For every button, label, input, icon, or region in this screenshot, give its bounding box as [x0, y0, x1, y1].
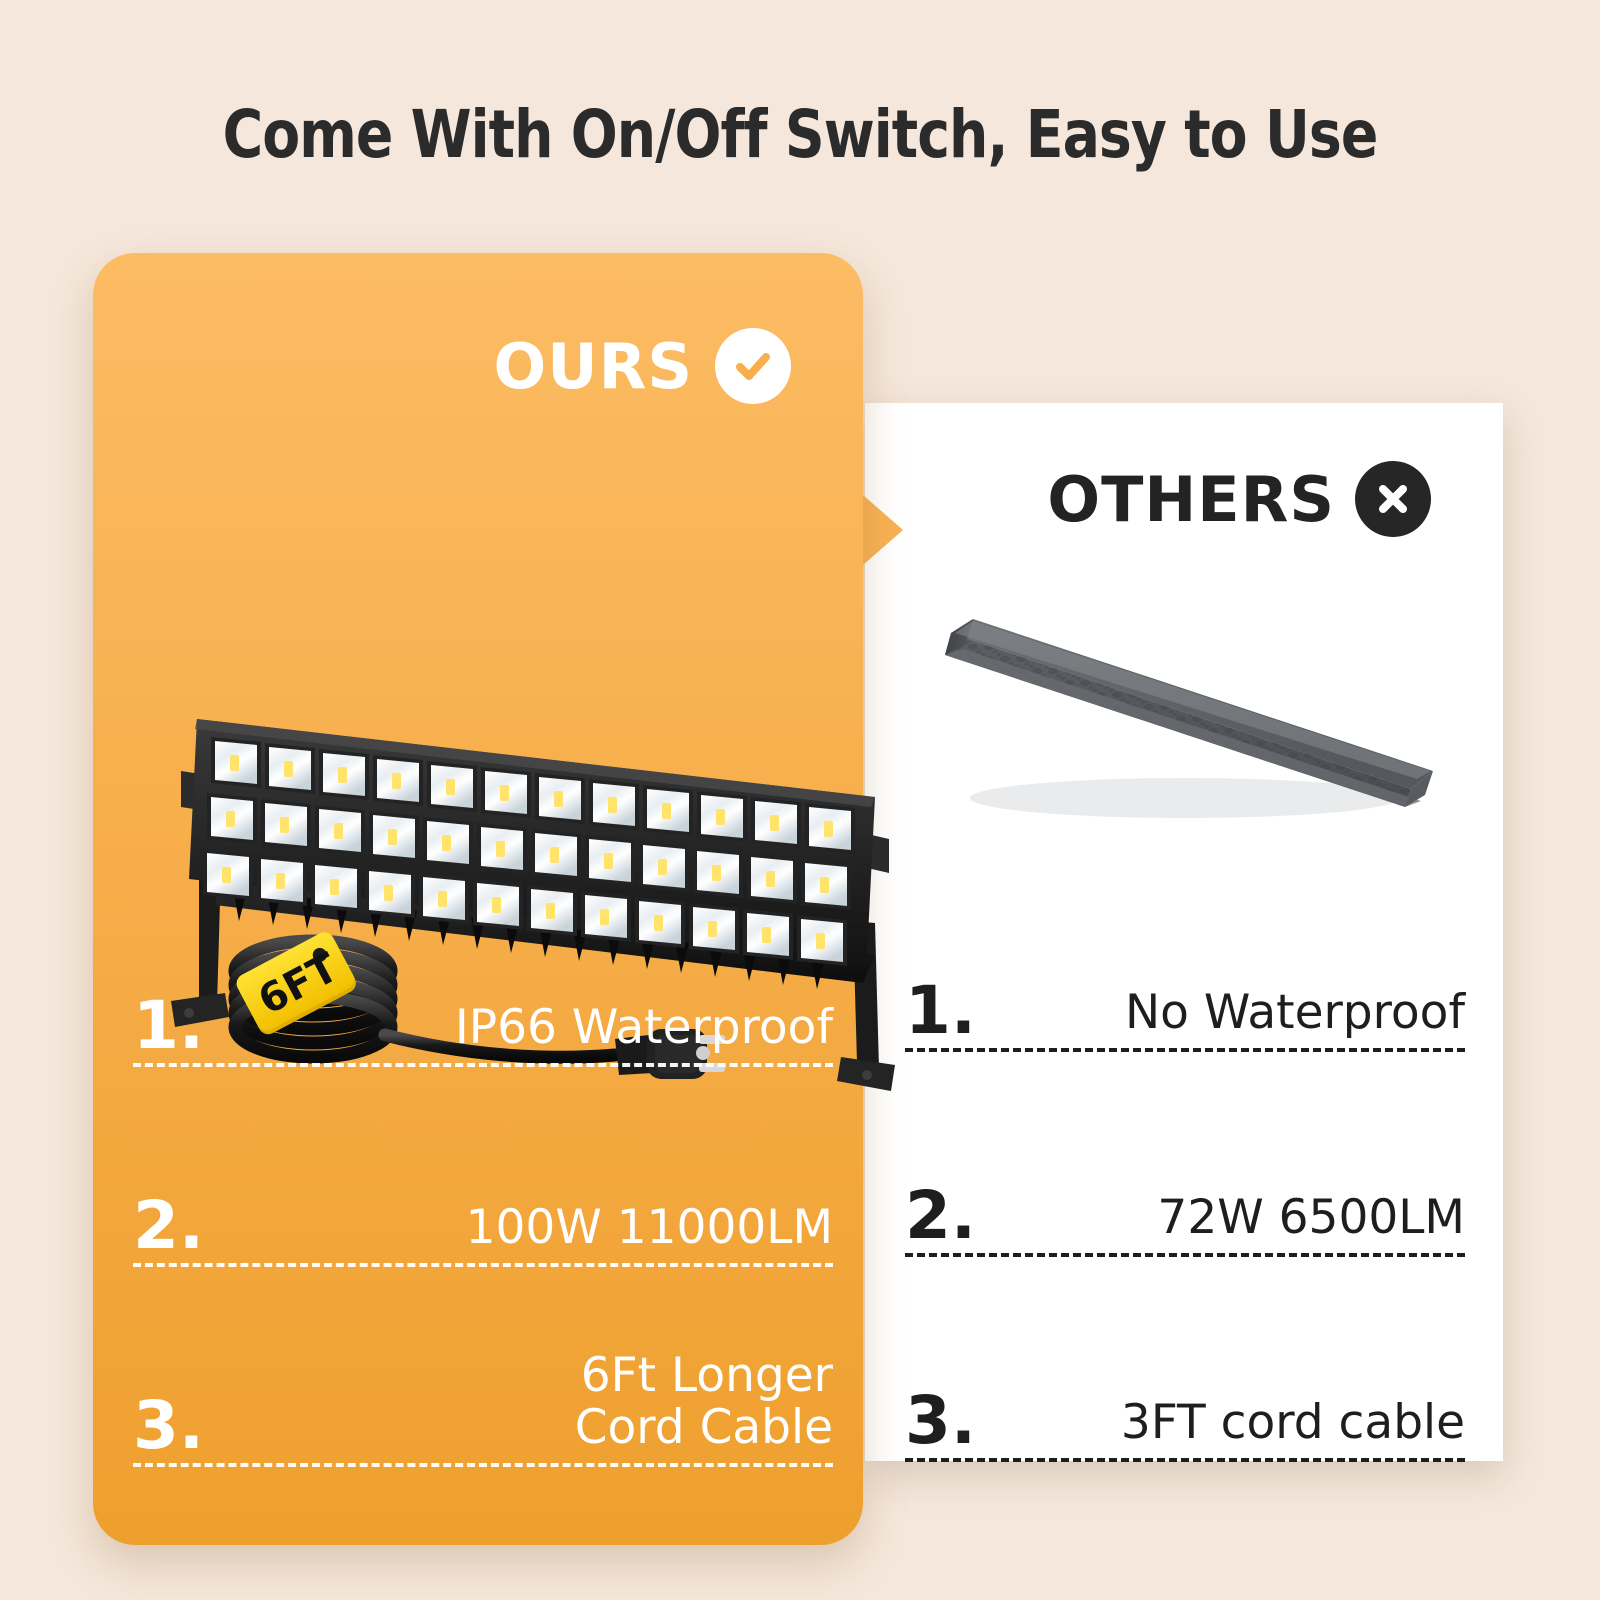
feature-divider	[133, 1063, 833, 1067]
feature-divider	[133, 1263, 833, 1267]
feature-divider	[133, 1463, 833, 1467]
feature-text: 100W 11000LM	[466, 1202, 833, 1263]
feature-row: 3. 3FT cord cable	[905, 1283, 1465, 1458]
feature-divider	[905, 1253, 1465, 1257]
competitor-light-bar-image	[885, 593, 1445, 843]
ours-header: OURS	[93, 328, 863, 404]
page-title: Come With On/Off Switch, Easy to Use	[56, 96, 1544, 173]
ours-label: OURS	[494, 330, 693, 403]
feature-number: 3.	[133, 1393, 204, 1463]
ours-feature-list: 1. IP66 Waterproof 2. 100W 11000LM 3. 6F…	[133, 893, 833, 1493]
feature-row: 3. 6Ft Longer Cord Cable	[133, 1293, 833, 1463]
feature-text: 72W 6500LM	[1157, 1192, 1465, 1253]
feature-number: 3.	[905, 1388, 976, 1458]
x-circle-icon	[1355, 461, 1431, 537]
feature-divider	[905, 1458, 1465, 1462]
feature-text: 3FT cord cable	[1121, 1397, 1465, 1458]
others-label: OTHERS	[1047, 463, 1335, 536]
feature-row: 2. 72W 6500LM	[905, 1078, 1465, 1253]
feature-row: 1. IP66 Waterproof	[133, 893, 833, 1063]
ours-comparison-card: OURS	[93, 253, 863, 1545]
others-comparison-card: OTHERS	[865, 403, 1503, 1461]
feature-row: 2. 100W 11000LM	[133, 1093, 833, 1263]
others-feature-list: 1. No Waterproof 2. 72W 6500LM 3. 3FT co…	[905, 873, 1465, 1488]
feature-number: 1.	[133, 993, 204, 1063]
feature-number: 2.	[905, 1183, 976, 1253]
feature-number: 1.	[905, 978, 976, 1048]
others-header: OTHERS	[865, 461, 1503, 537]
feature-divider	[905, 1048, 1465, 1052]
feature-number: 2.	[133, 1193, 204, 1263]
check-circle-icon	[715, 328, 791, 404]
feature-text: 6Ft Longer Cord Cable	[575, 1350, 833, 1463]
feature-text: No Waterproof	[1125, 987, 1465, 1048]
feature-text: IP66 Waterproof	[455, 1002, 833, 1063]
feature-row: 1. No Waterproof	[905, 873, 1465, 1048]
